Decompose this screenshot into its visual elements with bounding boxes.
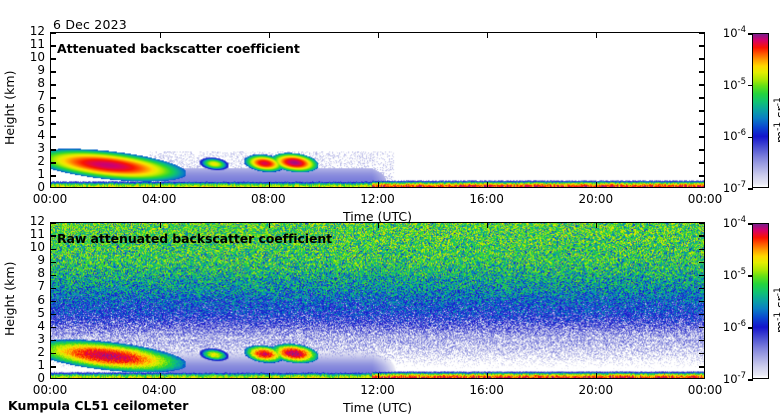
- y-tick-mark: [50, 366, 56, 367]
- y-tick-mark-right: [699, 366, 705, 367]
- y-tick-mark-right: [699, 32, 705, 33]
- x-tick-label: 00:00: [20, 383, 80, 397]
- x-tick-mark-top: [487, 222, 488, 228]
- y-tick-mark-right: [699, 71, 705, 72]
- colorbar-top: [752, 33, 769, 188]
- panel-attenuated-backscatter: Attenuated backscatter coefficient: [50, 32, 705, 188]
- colorbar-tick-label: 10-6: [712, 128, 746, 143]
- y-tick-label: 1: [5, 358, 45, 372]
- colorbar-tick-label: 10-5: [712, 267, 746, 282]
- y-tick-mark: [50, 97, 56, 98]
- y-tick-mark: [50, 149, 56, 150]
- footer-caption: Kumpula CL51 ceilometer: [8, 398, 188, 413]
- y-tick-mark: [50, 222, 56, 223]
- x-tick-mark-top: [269, 32, 270, 38]
- colorbar-bottom: [752, 223, 769, 379]
- x-tick-mark: [378, 373, 379, 379]
- y-tick-label: 10: [5, 240, 45, 254]
- x-axis-title: Time (UTC): [298, 209, 458, 224]
- y-tick-mark-right: [699, 262, 705, 263]
- x-tick-mark-top: [269, 222, 270, 228]
- x-tick-mark: [160, 182, 161, 188]
- colorbar-tick-mark: [748, 275, 753, 276]
- y-tick-mark-right: [699, 136, 705, 137]
- y-tick-mark-right: [699, 275, 705, 276]
- y-tick-mark-right: [699, 110, 705, 111]
- x-tick-mark: [487, 182, 488, 188]
- x-tick-label: 20:00: [566, 192, 626, 206]
- y-tick-label: 2: [5, 154, 45, 168]
- x-axis-title: Time (UTC): [298, 400, 458, 415]
- x-tick-mark-top: [378, 32, 379, 38]
- colorbar-tick-label: 10-7: [712, 371, 746, 386]
- y-tick-mark: [50, 45, 56, 46]
- y-tick-mark: [50, 235, 56, 236]
- y-tick-mark-right: [699, 301, 705, 302]
- y-tick-label: 2: [5, 345, 45, 359]
- y-tick-mark: [50, 162, 56, 163]
- colorbar-tick-label: 10-4: [712, 215, 746, 230]
- y-tick-mark: [50, 275, 56, 276]
- y-tick-mark-right: [699, 314, 705, 315]
- y-tick-label: 11: [5, 37, 45, 51]
- y-tick-label: 11: [5, 227, 45, 241]
- y-tick-mark: [50, 340, 56, 341]
- y-tick-mark: [50, 301, 56, 302]
- y-tick-mark-right: [699, 45, 705, 46]
- x-tick-mark-top: [160, 222, 161, 228]
- colorbar-unit-label: m-1 sr-1: [773, 287, 780, 333]
- panel-title-top: Attenuated backscatter coefficient: [57, 41, 300, 56]
- colorbar-unit-label: m-1 sr-1: [773, 97, 780, 143]
- x-tick-mark: [269, 182, 270, 188]
- x-tick-label: 04:00: [129, 383, 189, 397]
- colorbar-tick-label: 10-5: [712, 77, 746, 92]
- y-tick-mark: [50, 314, 56, 315]
- y-tick-mark-right: [699, 149, 705, 150]
- y-tick-label: 12: [5, 214, 45, 228]
- y-tick-mark: [50, 71, 56, 72]
- x-tick-label: 08:00: [238, 192, 298, 206]
- x-tick-mark: [487, 373, 488, 379]
- y-tick-mark-right: [699, 58, 705, 59]
- x-tick-label: 16:00: [457, 383, 517, 397]
- colorbar-tick-mark: [748, 33, 753, 34]
- y-tick-mark-right: [699, 175, 705, 176]
- colorbar-tick-mark: [748, 327, 753, 328]
- y-axis-title: Height (km): [2, 261, 17, 335]
- y-tick-mark-right: [699, 235, 705, 236]
- x-tick-label: 20:00: [566, 383, 626, 397]
- colorbar-gradient-top: [753, 34, 768, 187]
- x-tick-mark: [596, 182, 597, 188]
- colorbar-tick-label: 10-7: [712, 180, 746, 195]
- y-tick-mark: [50, 327, 56, 328]
- y-tick-mark-right: [699, 222, 705, 223]
- x-tick-mark-top: [160, 32, 161, 38]
- y-tick-mark: [50, 175, 56, 176]
- x-tick-mark: [378, 182, 379, 188]
- x-tick-label: 00:00: [20, 192, 80, 206]
- colorbar-tick-mark: [748, 85, 753, 86]
- x-tick-mark: [269, 373, 270, 379]
- colorbar-tick-mark: [748, 137, 753, 138]
- y-tick-mark-right: [699, 123, 705, 124]
- y-tick-mark-right: [699, 353, 705, 354]
- y-tick-mark: [50, 110, 56, 111]
- x-tick-label: 08:00: [238, 383, 298, 397]
- x-tick-mark: [596, 373, 597, 379]
- y-tick-mark: [50, 249, 56, 250]
- y-tick-mark-right: [699, 84, 705, 85]
- y-tick-mark: [50, 123, 56, 124]
- x-tick-label: 12:00: [348, 383, 408, 397]
- x-tick-mark-top: [487, 32, 488, 38]
- panel-raw-attenuated-backscatter: Raw attenuated backscatter coefficient: [50, 222, 705, 379]
- y-tick-mark-right: [699, 288, 705, 289]
- y-tick-mark-right: [699, 340, 705, 341]
- colorbar-tick-mark: [748, 223, 753, 224]
- y-tick-mark: [50, 32, 56, 33]
- y-tick-label: 10: [5, 50, 45, 64]
- y-tick-mark-right: [699, 249, 705, 250]
- x-tick-label: 12:00: [348, 192, 408, 206]
- colorbar-tick-mark: [748, 188, 753, 189]
- y-tick-mark-right: [699, 162, 705, 163]
- colorbar-tick-mark: [748, 379, 753, 380]
- x-tick-label: 04:00: [129, 192, 189, 206]
- y-tick-label: 1: [5, 167, 45, 181]
- x-tick-mark: [160, 373, 161, 379]
- x-tick-mark-top: [596, 32, 597, 38]
- figure-root: 6 Dec 2023 Attenuated backscatter coeffi…: [0, 0, 780, 420]
- y-tick-mark: [50, 136, 56, 137]
- y-tick-mark: [50, 353, 56, 354]
- heatmap-raw-attenuated-backscatter: [51, 223, 704, 378]
- y-tick-mark: [50, 288, 56, 289]
- colorbar-gradient-bottom: [753, 224, 768, 378]
- colorbar-tick-label: 10-6: [712, 319, 746, 334]
- x-tick-label: 16:00: [457, 192, 517, 206]
- y-tick-mark-right: [699, 97, 705, 98]
- y-tick-label: 12: [5, 24, 45, 38]
- y-tick-mark: [50, 262, 56, 263]
- y-axis-title: Height (km): [2, 71, 17, 145]
- colorbar-tick-label: 10-4: [712, 25, 746, 40]
- y-tick-mark: [50, 84, 56, 85]
- x-tick-mark-top: [596, 222, 597, 228]
- heatmap-attenuated-backscatter: [51, 33, 704, 187]
- y-tick-mark-right: [699, 327, 705, 328]
- panel-title-bottom: Raw attenuated backscatter coefficient: [57, 231, 332, 246]
- date-label: 6 Dec 2023: [53, 17, 127, 32]
- y-tick-mark: [50, 58, 56, 59]
